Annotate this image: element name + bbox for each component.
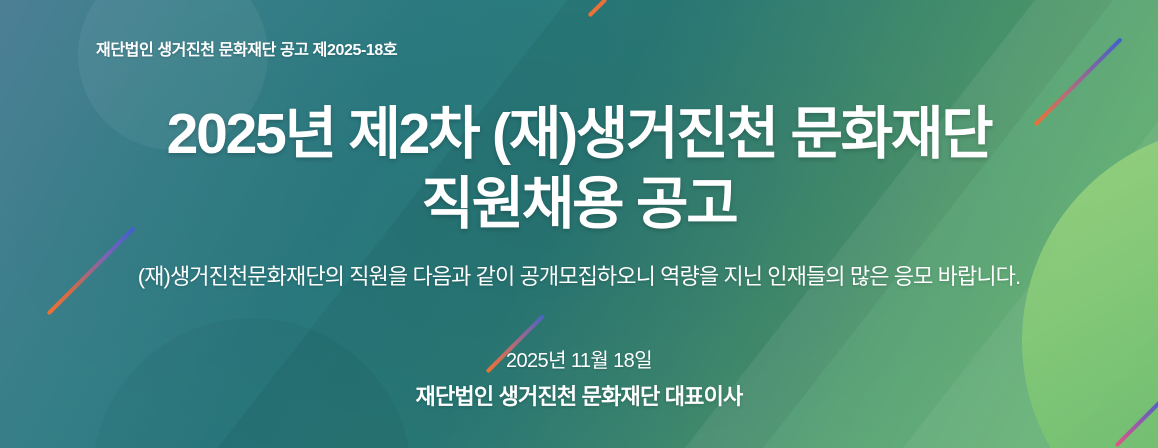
subtitle-description: (재)생거진천문화재단의 직원을 다음과 같이 공개모집하오니 역량을 지닌 인…: [0, 259, 1158, 291]
signature-organization: 재단법인 생거진천 문화재단 대표이사: [0, 379, 1158, 411]
recruitment-announcement-banner: 재단법인 생거진천 문화재단 공고 제2025-18호 2025년 제2차 (재…: [0, 0, 1158, 448]
page-title-line-1: 2025년 제2차 (재)생거진천 문화재단: [0, 100, 1158, 170]
notice-number: 재단법인 생거진천 문화재단 공고 제2025-18호: [96, 36, 397, 60]
page-title-line-2: 직원채용 공고: [0, 170, 1158, 240]
banner-content: 재단법인 생거진천 문화재단 공고 제2025-18호 2025년 제2차 (재…: [0, 0, 1158, 448]
signature-date: 2025년 11월 18일: [0, 344, 1158, 373]
page-title: 2025년 제2차 (재)생거진천 문화재단 직원채용 공고: [0, 100, 1158, 239]
